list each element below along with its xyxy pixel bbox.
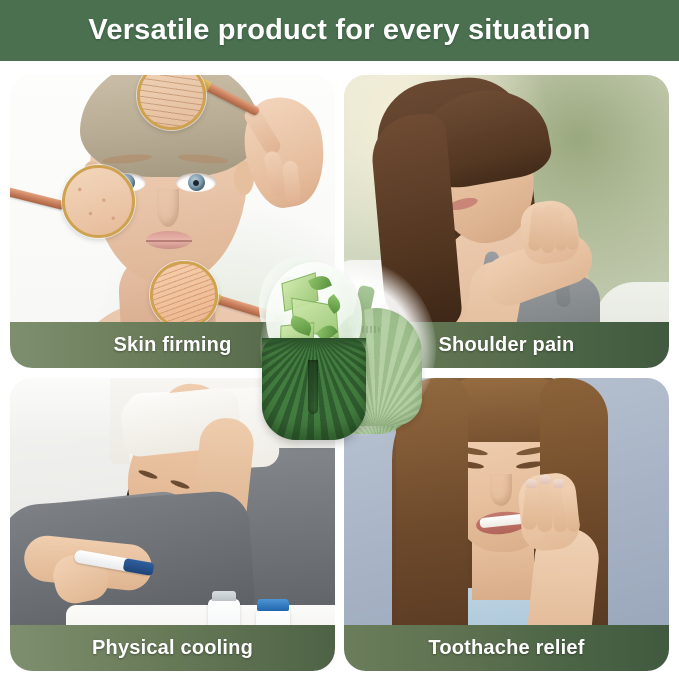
caption-bar-physical-cooling: Physical cooling bbox=[10, 625, 335, 671]
page-title: Versatile product for every situation bbox=[88, 14, 590, 47]
caption-label: Physical cooling bbox=[92, 637, 253, 660]
product-slot bbox=[308, 360, 318, 414]
pupil-right bbox=[193, 180, 199, 186]
teeth bbox=[479, 514, 524, 529]
magnifier-icon-cheek bbox=[62, 165, 135, 238]
bottle-cap bbox=[212, 591, 236, 601]
caption-label: Toothache relief bbox=[428, 637, 584, 660]
product-infographic: Versatile product for every situation bbox=[0, 0, 679, 673]
nose bbox=[490, 474, 512, 506]
bottle-cap bbox=[257, 599, 289, 611]
header-banner: Versatile product for every situation bbox=[0, 0, 679, 61]
fingernail bbox=[553, 479, 564, 488]
caption-label: Skin firming bbox=[114, 334, 232, 357]
ice-roller-dark-green bbox=[262, 338, 366, 440]
nose bbox=[157, 189, 179, 227]
iris-right bbox=[188, 174, 205, 191]
caption-bar-toothache-relief: Toothache relief bbox=[344, 625, 669, 671]
fingernail bbox=[540, 475, 551, 484]
lips bbox=[146, 231, 192, 249]
fingernail bbox=[526, 479, 537, 488]
caption-label: Shoulder pain bbox=[439, 334, 575, 357]
eye-right bbox=[176, 173, 216, 192]
center-product-image bbox=[252, 258, 442, 448]
lip-line bbox=[146, 240, 192, 242]
magnifier-icon-neck bbox=[150, 261, 218, 329]
